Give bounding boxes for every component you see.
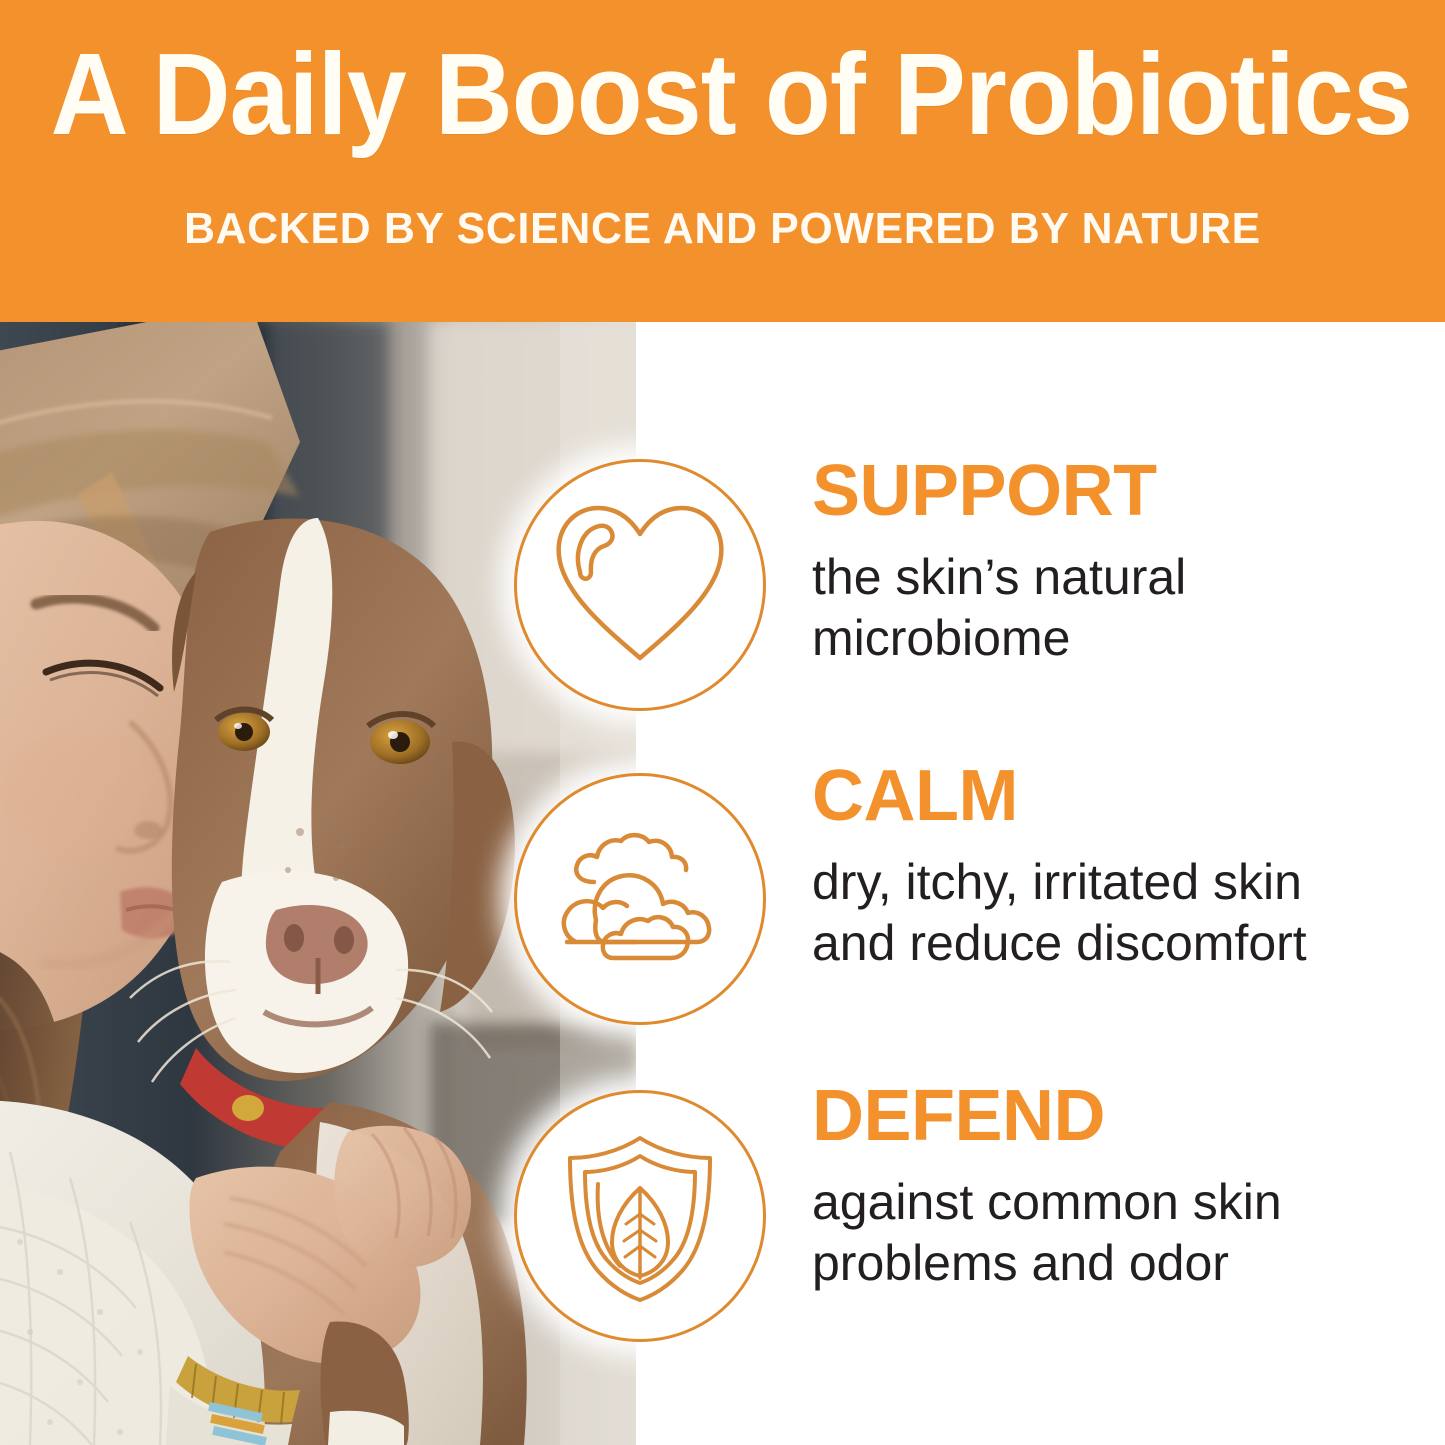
benefit-defend-title: DEFEND	[812, 1080, 1432, 1152]
benefit-defend-body-line-1: against common skin	[812, 1172, 1432, 1233]
page-title: A Daily Boost of Probiotics	[51, 36, 1395, 152]
benefit-calm-title: CALM	[812, 760, 1432, 832]
page-subtitle: BACKED BY SCIENCE AND POWERED BY NATURE	[22, 207, 1424, 251]
clouds-icon-badge	[514, 773, 766, 1025]
benefit-defend-body: against common skin problems and odor	[812, 1172, 1432, 1294]
benefit-support-body-line-1: the skin’s natural	[812, 547, 1412, 608]
benefit-defend-text: DEFEND against common skin problems and …	[812, 1080, 1432, 1294]
benefit-support-body: the skin’s natural microbiome	[812, 547, 1412, 669]
benefit-support-body-line-2: microbiome	[812, 608, 1412, 669]
benefit-calm-body-line-1: dry, itchy, irritated skin	[812, 852, 1432, 913]
header-banner: A Daily Boost of Probiotics BACKED BY SC…	[0, 0, 1445, 322]
benefit-calm-text: CALM dry, itchy, irritated skin and redu…	[812, 760, 1432, 974]
shield-leaf-icon-badge	[514, 1090, 766, 1342]
heart-icon-badge	[514, 459, 766, 711]
benefit-calm-body: dry, itchy, irritated skin and reduce di…	[812, 852, 1432, 974]
benefit-calm-body-line-2: and reduce discomfort	[812, 913, 1432, 974]
clouds-icon	[550, 824, 730, 974]
shield-leaf-icon	[550, 1126, 730, 1306]
benefit-defend-body-line-2: problems and odor	[812, 1233, 1432, 1294]
benefit-support-text: SUPPORT the skin’s natural microbiome	[812, 455, 1412, 669]
benefit-support-title: SUPPORT	[812, 455, 1412, 527]
heart-icon	[550, 500, 730, 670]
